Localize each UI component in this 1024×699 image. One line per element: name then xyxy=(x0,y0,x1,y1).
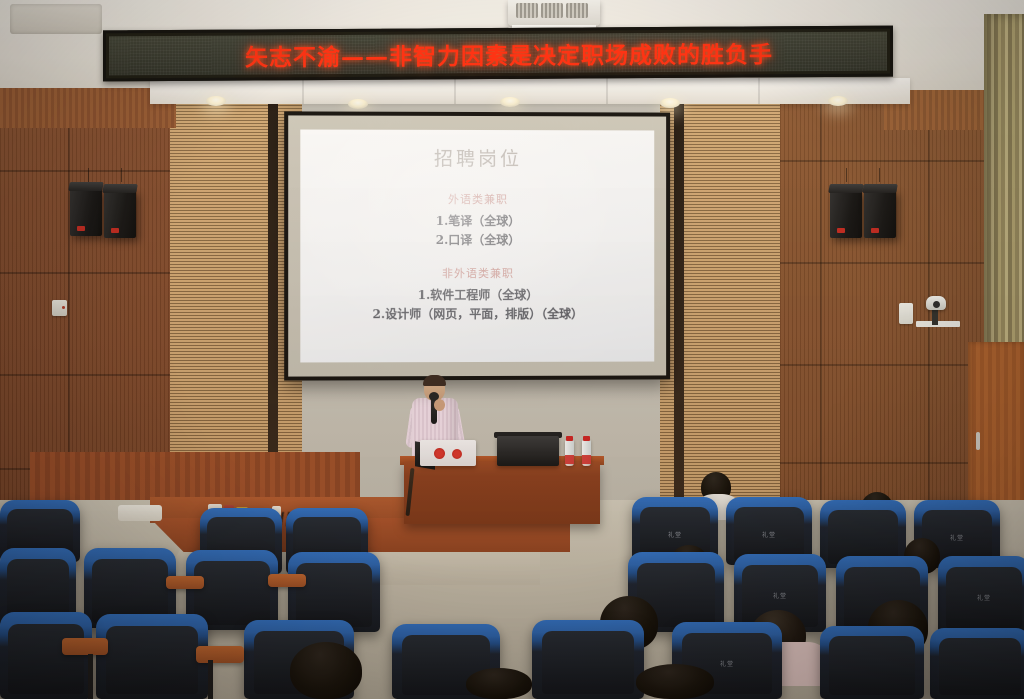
slide-item: 2.设计师（网页，平面，排版）（全球） xyxy=(372,305,582,322)
seat[interactable] xyxy=(0,612,92,699)
speaker-wire-right-2 xyxy=(879,168,880,182)
laptop-decal-2 xyxy=(452,449,462,459)
seat[interactable] xyxy=(930,628,1024,699)
speaker-wire-left-2 xyxy=(121,168,122,182)
seat-armrest xyxy=(196,646,244,663)
laptop-icon[interactable] xyxy=(420,440,476,466)
door-handle-icon[interactable] xyxy=(976,432,980,450)
wall-switch-panel-right[interactable] xyxy=(899,303,913,324)
projection-screen: 招聘岗位 外语类兼职 1.笔译（全球） 2.口译（全球） 非外语类兼职 1.软件… xyxy=(284,111,670,380)
audience-head xyxy=(636,664,714,699)
slide-section-heading-2: 非外语类兼职 xyxy=(442,265,514,281)
led-screen: 矢志不渝——非智力因素是决定职场成败的胜负手 xyxy=(109,32,887,76)
slide-section-heading-1: 外语类兼职 xyxy=(448,191,508,207)
podium-desk xyxy=(404,462,600,524)
audience-head xyxy=(466,668,532,699)
wall-switch-panel-left[interactable] xyxy=(52,300,67,316)
presenter-hair xyxy=(423,375,446,386)
seat-label: 礼堂 xyxy=(632,530,718,539)
seat-armrest xyxy=(62,638,108,655)
equipment-box-icon xyxy=(497,436,559,466)
wall-reveal-right xyxy=(674,88,684,548)
slide-title: 招聘岗位 xyxy=(434,144,522,171)
camera-lens-icon xyxy=(933,301,940,308)
seat[interactable] xyxy=(96,614,208,699)
downlight-icon-3 xyxy=(500,97,520,107)
slide-item: 2.口译（全球） xyxy=(436,231,521,248)
slide-item: 1.笔译（全球） xyxy=(436,212,521,229)
projected-slide: 招聘岗位 外语类兼职 1.笔译（全球） 2.口译（全球） 非外语类兼职 1.软件… xyxy=(300,130,654,363)
ceiling-projector-icon xyxy=(508,0,600,26)
water-bottle-1 xyxy=(565,440,574,466)
downlight-icon-1 xyxy=(206,96,226,106)
downlight-icon-4 xyxy=(660,98,680,108)
downlight-icon-2 xyxy=(348,99,368,109)
ceiling-soffit xyxy=(150,78,910,104)
slide-item: 1.软件工程师（全球） xyxy=(418,286,539,303)
seat-leg xyxy=(208,660,213,699)
wall-speaker-right-2 xyxy=(864,190,896,238)
water-bottle-2 xyxy=(582,440,591,466)
seat-leg xyxy=(88,654,93,699)
seat[interactable] xyxy=(532,620,644,699)
wall-speaker-left-2 xyxy=(104,190,136,238)
seat[interactable] xyxy=(820,626,924,699)
speaker-wire-left xyxy=(88,168,89,182)
camera-bracket xyxy=(916,321,960,327)
downlight-icon-5 xyxy=(828,96,848,106)
seat-label: 礼堂 xyxy=(938,593,1024,602)
screen-matte-border: 招聘岗位 外语类兼职 1.笔译（全球） 2.口译（全球） 非外语类兼职 1.软件… xyxy=(288,115,666,376)
stage-cloth xyxy=(118,505,162,521)
wall-speaker-right-1 xyxy=(830,190,862,238)
laptop-decal-1 xyxy=(434,448,445,459)
wall-speaker-left-1 xyxy=(70,188,102,236)
seat-armrest xyxy=(268,574,306,587)
speaker-wire-right xyxy=(846,168,847,182)
led-banner-text: 矢志不渝——非智力因素是决定职场成败的胜负手 xyxy=(223,35,773,72)
seat-label: 礼堂 xyxy=(734,591,826,600)
seat[interactable]: 礼堂 xyxy=(938,556,1024,634)
led-banner: 矢志不渝——非智力因素是决定职场成败的胜负手 xyxy=(103,26,893,82)
auditorium-scene: 矢志不渝——非智力因素是决定职场成败的胜负手 招聘岗位 外语类兼职 1.笔译（全… xyxy=(0,0,1024,699)
seat-label: 礼堂 xyxy=(726,530,812,539)
seat-armrest xyxy=(166,576,204,589)
presenter-hand xyxy=(434,399,445,411)
audience-head xyxy=(290,642,362,699)
air-vent-icon xyxy=(10,4,102,34)
